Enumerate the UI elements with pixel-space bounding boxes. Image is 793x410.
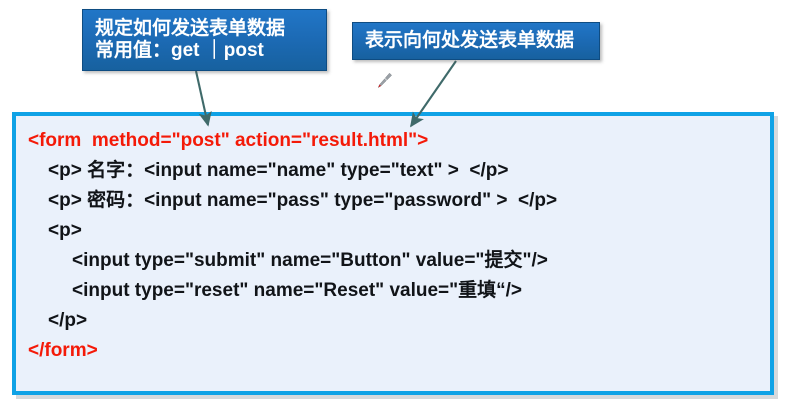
pencil-cursor-mark [373, 70, 395, 92]
method-callout-line-2: 常用值：get ｜post [95, 40, 326, 62]
code-line: <p> 密码：<input name="pass" type="password… [16, 186, 770, 216]
method-callout: 规定如何发送表单数据 常用值：get ｜post [82, 9, 327, 71]
action-callout-line-1: 表示向何处发送表单数据 [365, 30, 599, 52]
code-block-panel: <form method="post" action="result.html"… [12, 112, 774, 395]
code-line: <form method="post" action="result.html"… [16, 126, 770, 156]
action-callout: 表示向何处发送表单数据 [352, 22, 600, 60]
slide-canvas: 规定如何发送表单数据 常用值：get ｜post 表示向何处发送表单数据 <fo… [0, 0, 793, 410]
code-line: <input type="submit" name="Button" value… [16, 246, 770, 276]
code-lines: <form method="post" action="result.html"… [16, 126, 770, 366]
code-line: </form> [16, 336, 770, 366]
code-line: <p> [16, 216, 770, 246]
code-line: <input type="reset" name="Reset" value="… [16, 276, 770, 306]
method-callout-line-1: 规定如何发送表单数据 [95, 18, 326, 40]
code-line: <p> 名字：<input name="name" type="text" > … [16, 156, 770, 186]
code-line: </p> [16, 306, 770, 336]
